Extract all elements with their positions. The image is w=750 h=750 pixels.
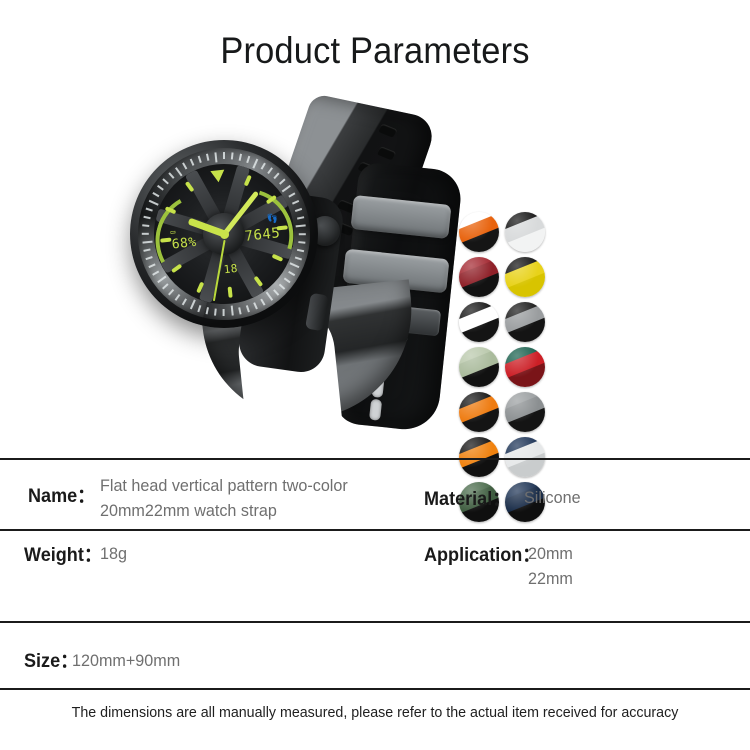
table-divider-top (0, 458, 750, 460)
swatch-row (459, 437, 551, 477)
hands-pivot (219, 229, 229, 239)
color-swatch-red-black[interactable] (459, 257, 499, 297)
color-swatch-white-black[interactable] (505, 212, 545, 252)
color-swatch-grey-black[interactable] (505, 302, 545, 342)
product-parameters-page: Product Parameters (0, 0, 750, 750)
measurement-disclaimer: The dimensions are all manually measured… (19, 704, 732, 721)
spec-value-size: 120mm+90mm (72, 648, 180, 673)
spec-label-name: Name： (28, 481, 95, 508)
watch-illustration: ▭ 68% 👣 7645 18 (128, 108, 458, 438)
color-swatch-green-red[interactable] (505, 347, 545, 387)
color-swatch-sage-black[interactable] (459, 347, 499, 387)
swatch-row (459, 257, 551, 297)
strap-hole (377, 146, 397, 160)
date-complication: 18 (223, 262, 239, 276)
color-swatch-yellow-black[interactable] (505, 257, 545, 297)
spec-label-weight: Weight： (24, 540, 102, 567)
dial-triangle-marker (210, 170, 225, 183)
spec-label-size: Size： (24, 646, 78, 673)
color-swatch-grid[interactable] (459, 212, 551, 527)
page-title: Product Parameters (26, 30, 724, 72)
spec-label-application: Application： (424, 540, 540, 567)
spec-value-application: 20mm 22mm (528, 541, 573, 591)
spec-label-material: Material： (424, 484, 510, 511)
spec-value-material: Silicone (524, 485, 581, 510)
swatch-row (459, 212, 551, 252)
table-divider-3 (0, 621, 750, 623)
spec-value-weight: 18g (100, 541, 127, 566)
table-divider-bottom (0, 688, 750, 690)
color-swatch-orange-white[interactable] (459, 212, 499, 252)
color-swatch-grey-black-2[interactable] (505, 392, 545, 432)
swatch-row (459, 347, 551, 387)
table-divider-2 (0, 529, 750, 531)
color-swatch-white-black-2[interactable] (459, 302, 499, 342)
hour-marker (228, 287, 233, 298)
swatch-row (459, 302, 551, 342)
color-swatch-orange-black-2[interactable] (459, 437, 499, 477)
battery-complication: ▭ 68% (170, 225, 197, 252)
swatch-row (459, 392, 551, 432)
spec-value-name: Flat head vertical pattern two-color 20m… (100, 473, 385, 523)
strap-hole (378, 123, 398, 137)
color-swatch-orange-black[interactable] (459, 392, 499, 432)
strap-hole (369, 399, 382, 421)
battery-value: 68% (171, 235, 197, 253)
steps-complication: 👣 7645 (243, 214, 281, 245)
product-image: ▭ 68% 👣 7645 18 (0, 100, 750, 450)
color-swatch-navy-white[interactable] (505, 437, 545, 477)
